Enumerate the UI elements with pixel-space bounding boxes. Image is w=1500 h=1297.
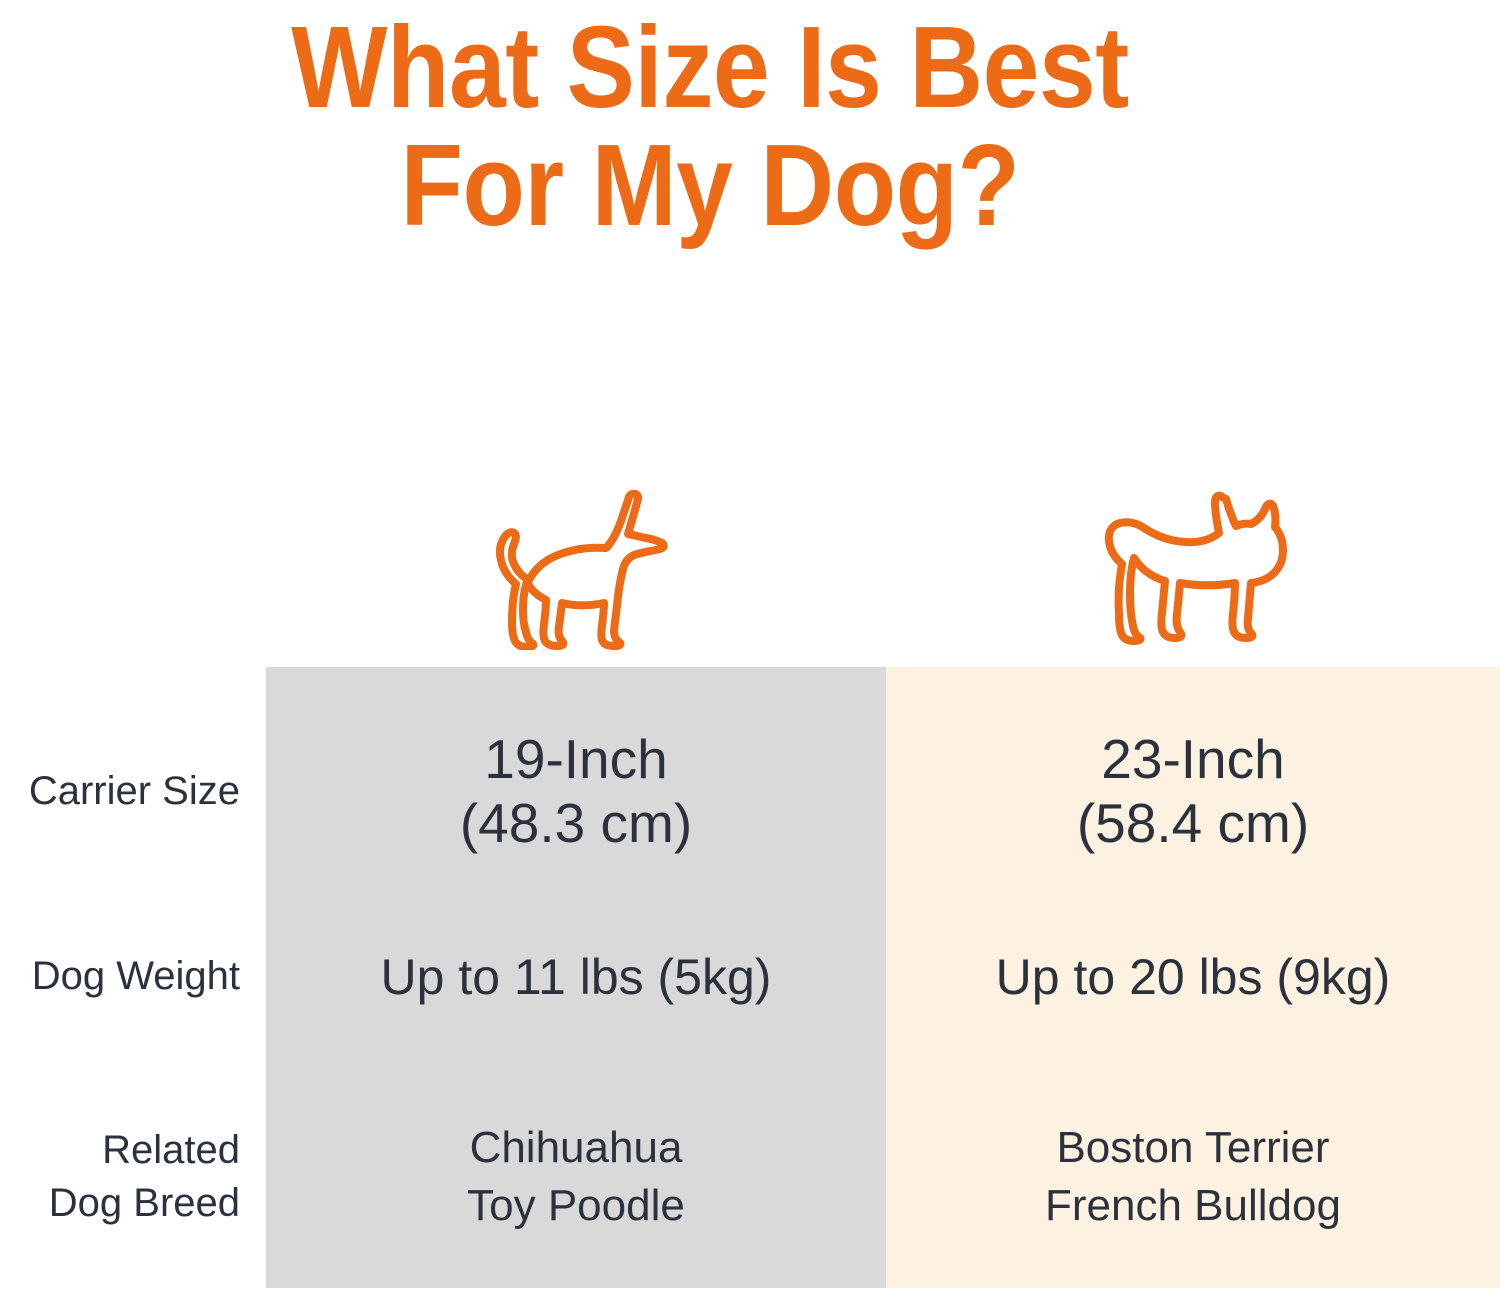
icon-cell-medium — [886, 470, 1500, 650]
cell-carrier-size-medium: 23-Inch (58.4 cm) — [886, 728, 1500, 856]
row-label-dog-weight: Dog Weight — [0, 951, 266, 1002]
row-label-carrier-size: Carrier Size — [0, 766, 266, 817]
french-bulldog-dog-icon — [1088, 490, 1298, 650]
table-row-carrier-size: Carrier Size 19-Inch (48.3 cm) 23-Inch (… — [0, 707, 1500, 877]
dog-icons-row — [266, 470, 1500, 650]
cell-carrier-size-small: 19-Inch (48.3 cm) — [266, 728, 886, 856]
table-row-related-dog-breed: Related Dog Breed Chihuahua Toy Poodle B… — [0, 1107, 1500, 1247]
comparison-table: Carrier Size 19-Inch (48.3 cm) 23-Inch (… — [0, 667, 1500, 1288]
chihuahua-dog-icon — [478, 490, 674, 650]
page-title-line-2: For My Dog? — [85, 126, 1335, 244]
cell-related-dog-breed-medium: Boston Terrier French Bulldog — [886, 1119, 1500, 1235]
page-title: What Size Is Best For My Dog? — [0, 8, 1420, 245]
cell-related-dog-breed-small: Chihuahua Toy Poodle — [266, 1119, 886, 1235]
table-row-dog-weight: Dog Weight Up to 11 lbs (5kg) Up to 20 l… — [0, 922, 1500, 1032]
page-title-line-1: What Size Is Best — [85, 8, 1335, 126]
row-label-related-dog-breed: Related Dog Breed — [0, 1124, 266, 1230]
cell-dog-weight-small: Up to 11 lbs (5kg) — [266, 948, 886, 1006]
icon-cell-small — [266, 470, 886, 650]
cell-dog-weight-medium: Up to 20 lbs (9kg) — [886, 948, 1500, 1006]
